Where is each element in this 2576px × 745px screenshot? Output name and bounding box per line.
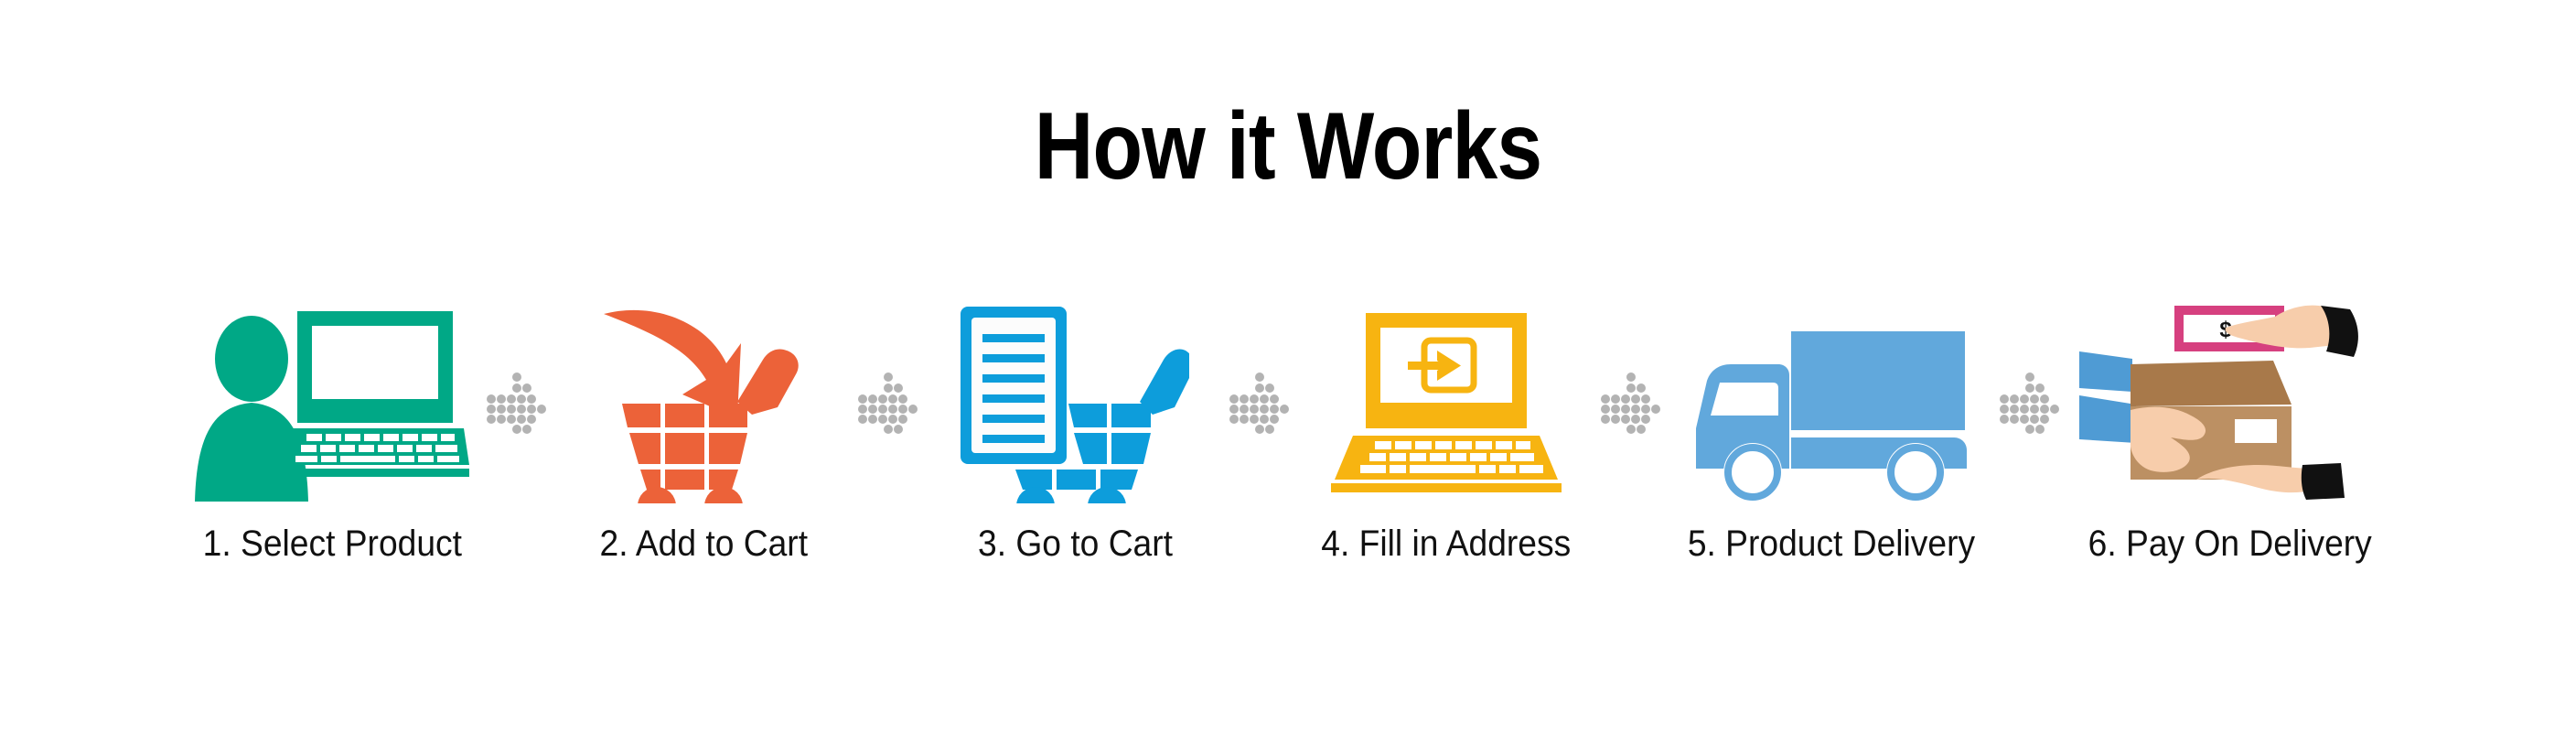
step-4-art: [1295, 302, 1597, 503]
person-with-laptop-icon: [195, 311, 469, 503]
cart-cell-3: [709, 404, 747, 427]
step-2-art: [553, 302, 854, 503]
sleeve-blue-left: [2079, 351, 2136, 443]
cart-handle: [1140, 349, 1189, 415]
cart-cell-6: [709, 433, 747, 464]
dotted-arrow-right-icon: [857, 372, 921, 434]
separator-3: [1226, 302, 1295, 503]
document-with-cart-icon: [961, 307, 1189, 503]
dotted-arrow-right-icon: [1999, 372, 2063, 434]
cart-cell-1: [1068, 404, 1107, 427]
separator-2: [854, 302, 924, 503]
laptop-base-edge: [281, 469, 469, 477]
delivery-truck-icon: [1694, 329, 1969, 503]
cart-cell-4: [1111, 433, 1151, 464]
black-cuff-bottom: [2302, 463, 2345, 500]
curved-down-arrow: [604, 310, 741, 418]
laptop-with-login-arrow-icon: [1327, 313, 1565, 503]
step-6-label: 6. Pay On Delivery: [2088, 524, 2372, 565]
truck-window: [1711, 383, 1778, 416]
person-head: [215, 316, 288, 402]
page-title: How it Works: [180, 99, 2396, 194]
infographic-canvas: How it Works: [0, 0, 2576, 745]
dotted-arrow-right-icon: [1600, 372, 1664, 434]
separator-1: [483, 302, 553, 503]
cart-cell-7: [640, 470, 660, 490]
dotted-arrow-right-icon: [486, 372, 550, 434]
step-2-add-to-cart[interactable]: 2. Add to Cart: [553, 302, 854, 565]
step-1-label: 1. Select Product: [202, 524, 461, 565]
step-1-select-product[interactable]: 1. Select Product: [181, 302, 483, 565]
truck-cargo-box: [1791, 331, 1965, 430]
cart-cell-4: [629, 433, 660, 464]
separator-4: [1597, 302, 1667, 503]
dotted-arrow-right-icon: [1229, 372, 1293, 434]
hands-exchanging-box-and-cash-icon: $: [2079, 304, 2381, 503]
shipping-label: [2235, 419, 2277, 443]
cart-cell-7: [1100, 470, 1138, 490]
step-3-label: 3. Go to Cart: [978, 524, 1173, 565]
separator-5: [1996, 302, 2066, 503]
cart-cell-6: [1057, 470, 1096, 490]
cart-cell-5: [1015, 470, 1052, 490]
step-4-label: 4. Fill in Address: [1322, 524, 1572, 565]
step-3-go-to-cart[interactable]: 3. Go to Cart: [924, 302, 1226, 565]
step-5-product-delivery[interactable]: 5. Product Delivery: [1667, 302, 1996, 565]
truck-wheel-left-gap: [1723, 443, 1782, 502]
step-3-art: [924, 302, 1226, 503]
step-1-art: [181, 302, 483, 503]
cart-cell-9: [709, 470, 738, 490]
step-6-art: $: [2066, 302, 2395, 503]
steps-row: 1. Select Product: [0, 302, 2576, 565]
laptop-screen-display: [312, 326, 438, 399]
cart-cell-5: [665, 433, 704, 464]
cart-cell-3: [1074, 433, 1107, 464]
step-4-fill-in-address[interactable]: 4. Fill in Address: [1295, 302, 1597, 565]
cart-cell-2: [665, 404, 704, 427]
cart-cell-1: [622, 404, 660, 427]
step-5-label: 5. Product Delivery: [1688, 524, 1975, 565]
cart-cell-8: [665, 470, 704, 490]
step-5-art: [1667, 302, 1996, 503]
shopping-cart-with-arrow-icon: [598, 307, 809, 503]
step-6-pay-on-delivery[interactable]: $: [2066, 302, 2395, 565]
laptop-base-edge: [1331, 483, 1562, 492]
truck-wheel-right-gap: [1886, 443, 1945, 502]
cart-cell-2: [1111, 404, 1151, 427]
cart-handle: [737, 349, 799, 415]
step-2-label: 2. Add to Cart: [599, 524, 807, 565]
box-top-face: [2131, 361, 2292, 406]
